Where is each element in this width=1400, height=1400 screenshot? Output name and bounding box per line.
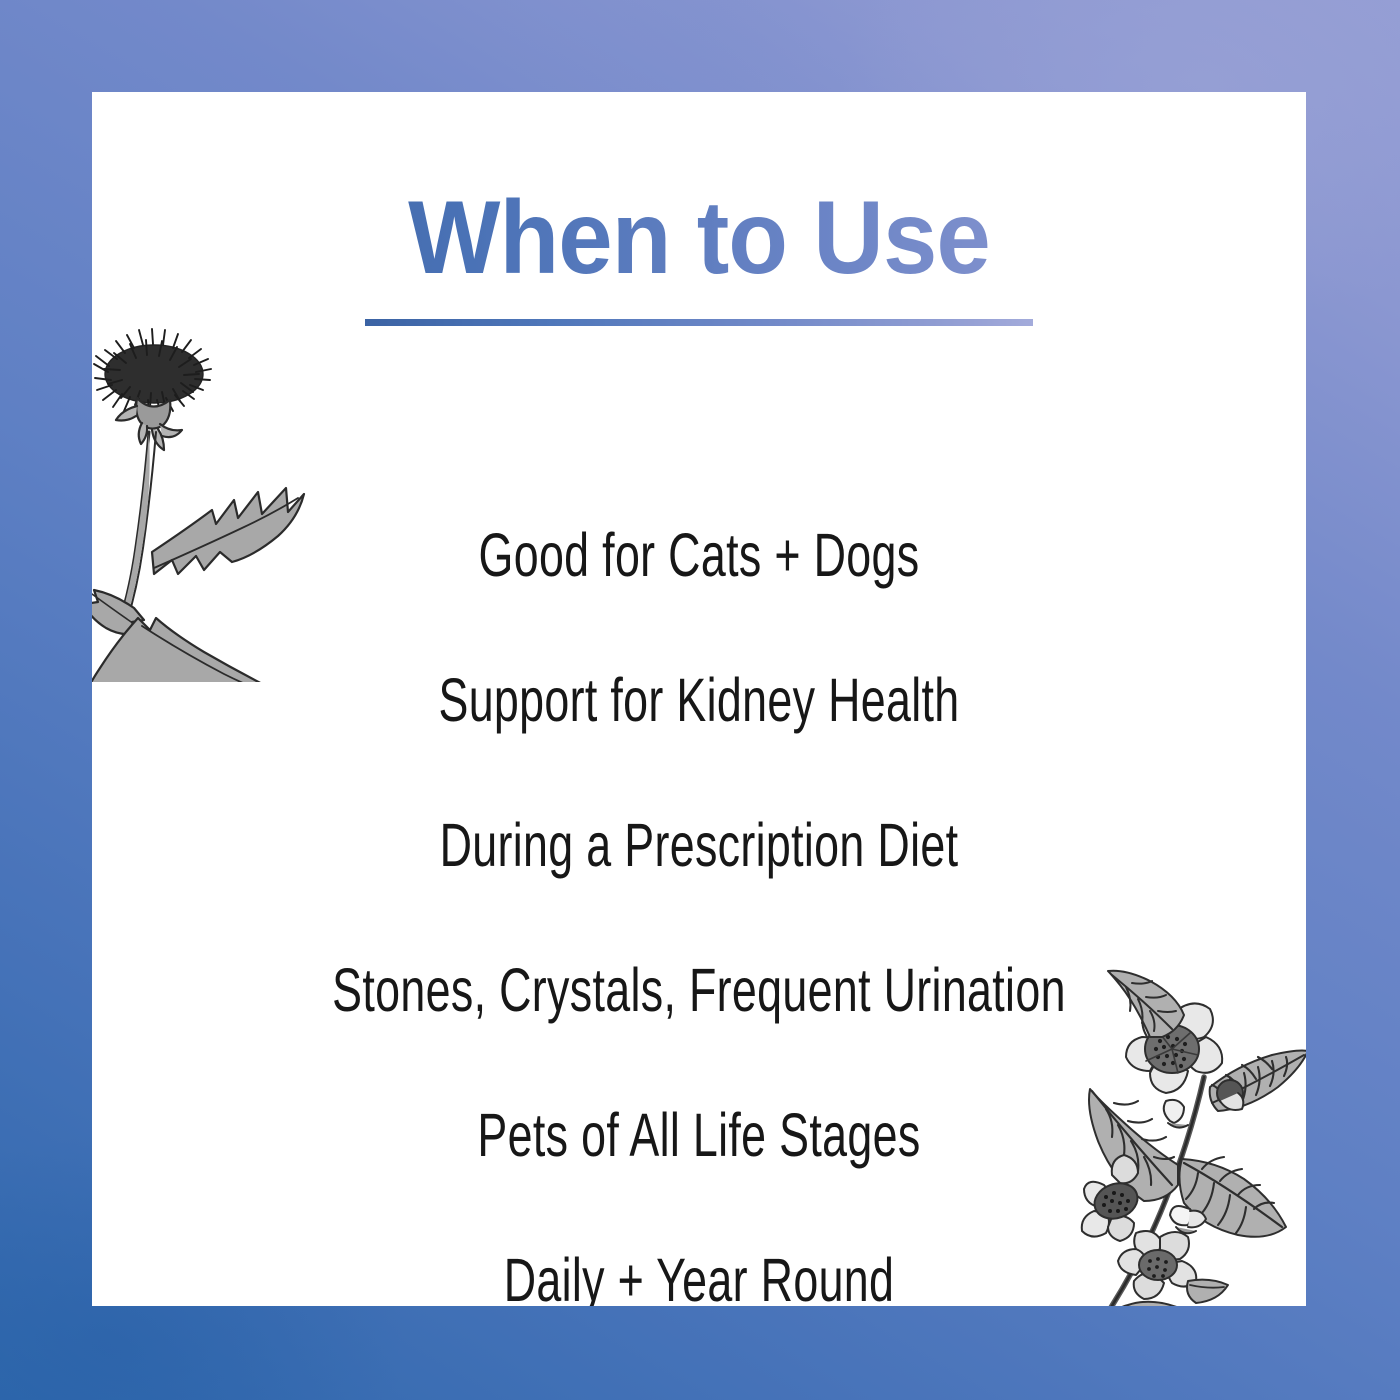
list-item: Good for Cats + Dogs: [213, 475, 1184, 635]
poster: When to Use Good for Cats + Dogs Support…: [0, 0, 1400, 1400]
dandelion-illustration: [92, 322, 307, 682]
benefit-label: Good for Cats + Dogs: [479, 524, 920, 586]
dandelion-icon: [92, 322, 307, 682]
page-title: When to Use: [128, 186, 1269, 290]
benefit-label: During a Prescription Diet: [440, 814, 959, 876]
flowering-branch-icon: [1032, 969, 1306, 1306]
benefit-label: Pets of All Life Stages: [477, 1104, 920, 1166]
flowering-branch-illustration: [1032, 969, 1306, 1306]
benefit-label: Stones, Crystals, Frequent Urination: [332, 959, 1066, 1021]
heading-block: When to Use: [92, 186, 1306, 326]
list-item: Support for Kidney Health: [213, 620, 1184, 780]
list-item: During a Prescription Diet: [213, 765, 1184, 925]
content-card: When to Use Good for Cats + Dogs Support…: [92, 92, 1306, 1306]
benefit-label: Support for Kidney Health: [438, 669, 959, 731]
benefit-label: Daily + Year Round: [504, 1249, 895, 1306]
title-underline-rule: [365, 319, 1033, 326]
